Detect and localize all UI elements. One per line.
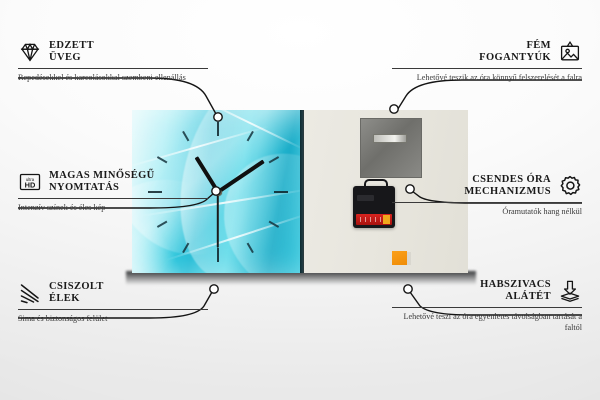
battery-marking (380, 217, 381, 222)
quartz-clock-mechanism (353, 186, 395, 228)
clock-tick (217, 248, 219, 262)
gear-icon (558, 174, 582, 198)
feature-header: HABSZIVACS ALÁTÉT (392, 279, 582, 304)
diamond-icon (18, 40, 42, 64)
clock-tick (157, 156, 168, 163)
ultra-hd-badge-icon: ultra HD (18, 170, 42, 194)
divider (392, 68, 582, 69)
feature-subtitle: Intenzív színek és éles kép (18, 203, 208, 214)
battery-marking (365, 217, 366, 222)
clock-tick (157, 221, 168, 228)
divider (392, 307, 582, 308)
divider (18, 198, 208, 199)
feature-subtitle: Lehetővé teszik az óra könnyű felszerelé… (392, 73, 582, 84)
feature-habszivacs-alatet[interactable]: HABSZIVACS ALÁTÉT Lehetővé teszi az óra … (392, 279, 582, 333)
clock-tick (269, 156, 280, 163)
polished-edge-icon (18, 281, 42, 305)
feature-subtitle: Repedésekkel és karcolásokkal szembeni e… (18, 73, 208, 84)
battery-marking (370, 217, 371, 222)
hanger-slot (373, 134, 407, 143)
clock-tick (247, 131, 254, 142)
clock-center-cap (215, 189, 222, 196)
infographic-canvas: EDZETT ÜVEG Repedésekkel és karcolásokka… (0, 0, 600, 400)
foam-pad-icon (558, 279, 582, 303)
battery (356, 214, 392, 225)
feature-title: EDZETT ÜVEG (49, 40, 94, 65)
svg-text:HD: HD (25, 181, 36, 190)
feature-magas-minosegu-nyomtatas[interactable]: ultra HD MAGAS MINŐSÉGŰ NYOMTATÁS Intenz… (18, 170, 208, 214)
divider (18, 309, 208, 310)
clock-tick (269, 221, 280, 228)
clock-tick (182, 131, 189, 142)
battery-marking (360, 217, 361, 222)
mechanism-hanging-loop (364, 179, 388, 192)
feature-title: HABSZIVACS ALÁTÉT (480, 279, 551, 304)
feature-title: CSISZOLT ÉLEK (49, 281, 104, 306)
metal-hanger-plate (360, 118, 422, 178)
feature-title: MAGAS MINŐSÉGŰ NYOMTATÁS (49, 170, 155, 195)
feature-edzett-uveg[interactable]: EDZETT ÜVEG Repedésekkel és karcolásokka… (18, 40, 208, 84)
divider (392, 202, 582, 203)
foam-pad (392, 251, 407, 265)
feature-subtitle: Óramutatók hang nélkül (392, 207, 582, 218)
feature-title: FÉM FOGANTYÚK (479, 40, 551, 65)
clock-tick (247, 243, 254, 254)
battery-marking (375, 217, 376, 222)
clock-minute-hand (217, 160, 265, 194)
feature-csendes-ora-mechanizmus[interactable]: CSENDES ÓRA MECHANIZMUS Óramutatók hang … (392, 174, 582, 218)
picture-hanger-icon (558, 40, 582, 64)
foam-pad-shadow (407, 252, 411, 265)
feature-header: CSISZOLT ÉLEK (18, 281, 208, 306)
clock-tick (182, 243, 189, 254)
battery-plus-terminal (383, 215, 390, 224)
divider (18, 68, 208, 69)
feature-fem-fogantyuk[interactable]: FÉM FOGANTYÚK Lehetővé teszik az óra kön… (392, 40, 582, 84)
feature-subtitle: Sima és biztonságos felület (18, 314, 208, 325)
clock-tick (274, 191, 288, 193)
feature-header: CSENDES ÓRA MECHANIZMUS (392, 174, 582, 199)
feature-csiszolt-elek[interactable]: CSISZOLT ÉLEK Sima és biztonságos felüle… (18, 281, 208, 325)
feature-header: ultra HD MAGAS MINŐSÉGŰ NYOMTATÁS (18, 170, 208, 195)
feature-header: EDZETT ÜVEG (18, 40, 208, 65)
feature-header: FÉM FOGANTYÚK (392, 40, 582, 65)
clock-tick (217, 122, 219, 136)
mechanism-slot (357, 195, 374, 201)
feature-title: CSENDES ÓRA MECHANIZMUS (464, 174, 551, 199)
feature-subtitle: Lehetővé teszi az óra egyenletes távolsá… (392, 312, 582, 334)
clock-second-hand (217, 192, 219, 248)
